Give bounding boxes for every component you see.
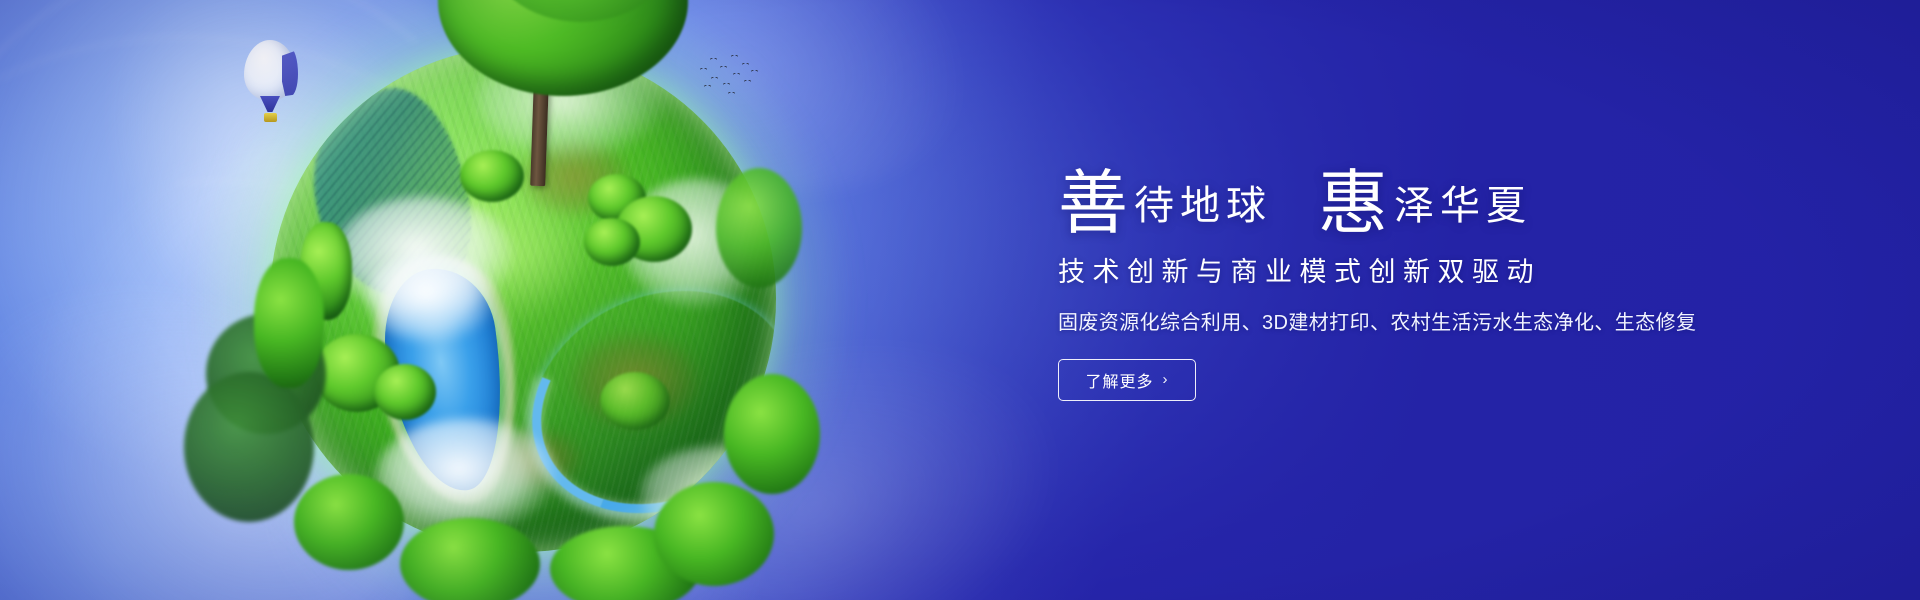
hero-banner: 善 待地球 惠 泽华夏 技术创新与商业模式创新双驱动 固废资源化综合利用、3D建… (0, 0, 1920, 600)
vignette (0, 0, 1920, 600)
